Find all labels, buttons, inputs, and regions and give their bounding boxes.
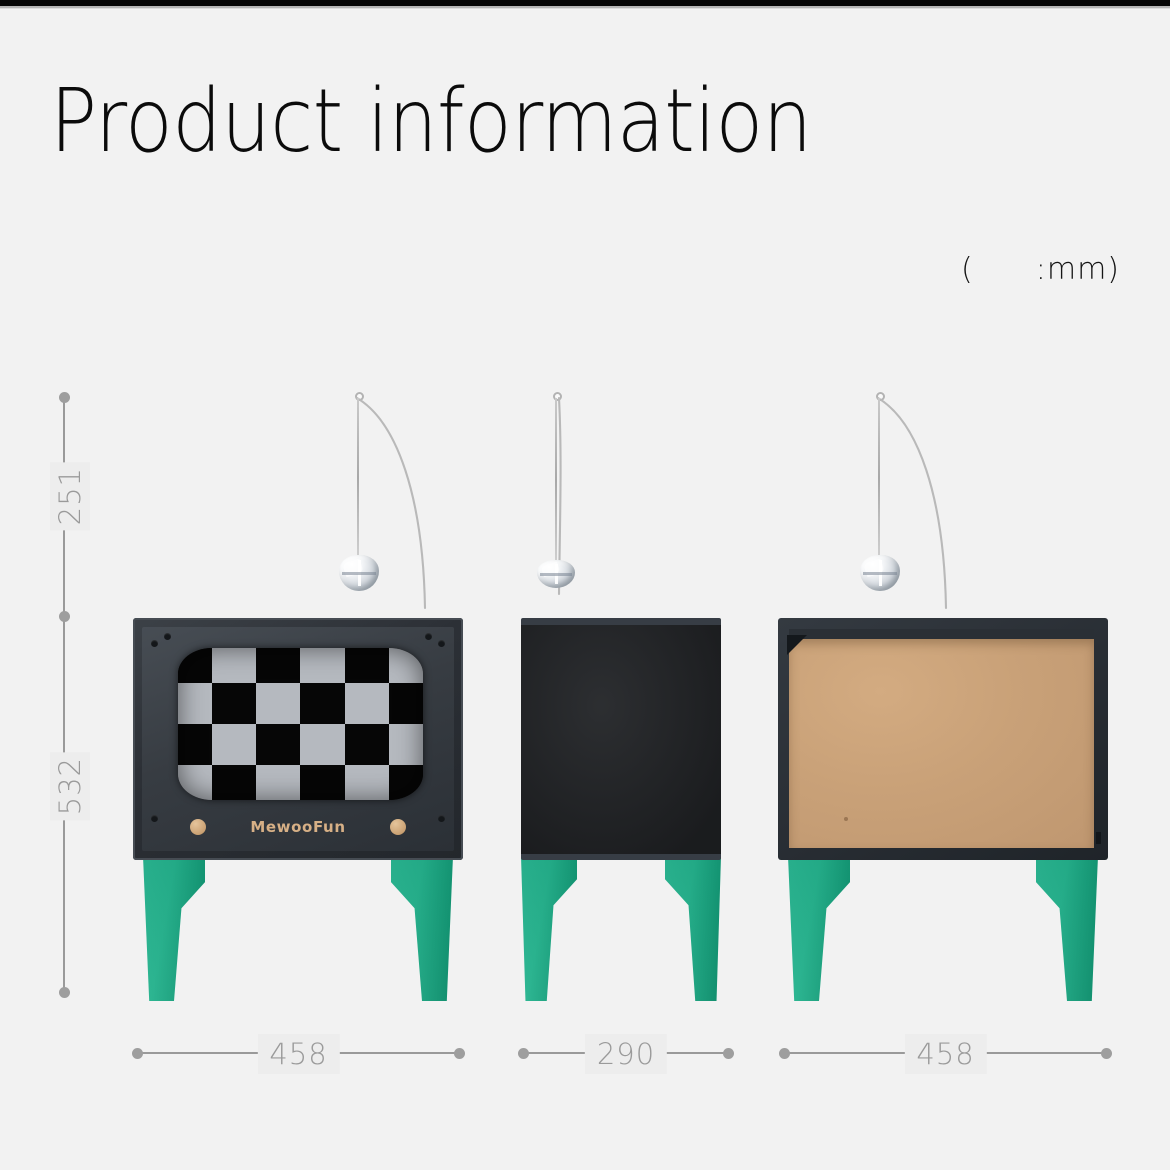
dimension-dot-right xyxy=(1101,1048,1112,1059)
bell-drop-wire xyxy=(555,398,557,563)
leg-right xyxy=(665,856,721,1001)
leg-left xyxy=(143,856,205,1001)
checker-cell xyxy=(212,648,256,683)
checker-cell xyxy=(256,724,300,765)
screw-top-right-2 xyxy=(425,633,432,640)
wire-toy-front xyxy=(355,392,445,577)
checker-cell xyxy=(256,648,300,683)
checker-cell xyxy=(300,765,344,800)
checker-cell xyxy=(256,683,300,724)
checker-cell xyxy=(389,683,423,724)
checker-cell xyxy=(389,765,423,800)
dimension-label-side-depth: 290 xyxy=(585,1034,667,1074)
checker-cell xyxy=(345,765,389,800)
product-side-view xyxy=(517,386,725,1001)
corner-notch xyxy=(787,635,807,655)
tv-cabinet-back xyxy=(778,618,1108,860)
bell-slit-horizontal xyxy=(342,572,376,575)
legs-front xyxy=(143,856,453,1001)
horizontal-dimension-rail-front: 458 xyxy=(132,1048,465,1059)
dimension-label-front-width: 458 xyxy=(257,1034,339,1074)
dimension-dot-left xyxy=(518,1048,529,1059)
product-stage: MewooFun xyxy=(0,0,1170,1170)
checker-cell xyxy=(389,648,423,683)
screw-top-right xyxy=(438,640,445,647)
side-panel-texture xyxy=(521,625,721,854)
checker-cell xyxy=(300,648,344,683)
horizontal-dimension-rail-side: 290 xyxy=(518,1048,734,1059)
knob-right-icon xyxy=(390,819,406,835)
checkerboard-pattern xyxy=(178,648,423,800)
wire-toy-back xyxy=(876,392,966,577)
checker-cell xyxy=(178,648,212,683)
knob-left-icon xyxy=(190,819,206,835)
checker-cell xyxy=(212,724,256,765)
legs-side xyxy=(521,856,721,1001)
checker-cell xyxy=(345,683,389,724)
checker-cell xyxy=(345,648,389,683)
dimension-label-back-width: 458 xyxy=(904,1034,986,1074)
leg-left xyxy=(521,856,577,1001)
leg-left xyxy=(788,856,850,1001)
tv-cabinet-front: MewooFun xyxy=(133,618,463,860)
tv-cabinet-side xyxy=(521,618,721,860)
horizontal-dimension-rail-back: 458 xyxy=(779,1048,1112,1059)
checker-cell xyxy=(345,724,389,765)
product-front-view: MewooFun xyxy=(133,386,463,1001)
leg-right xyxy=(391,856,453,1001)
checker-cell xyxy=(300,683,344,724)
leg-right xyxy=(1036,856,1098,1001)
cardboard-panel xyxy=(789,639,1094,848)
checker-cell xyxy=(256,765,300,800)
dimension-dot-left xyxy=(132,1048,143,1059)
bell-drop-wire xyxy=(357,398,359,558)
dimension-dot-right xyxy=(723,1048,734,1059)
checker-cell xyxy=(178,683,212,724)
dimension-dot-right xyxy=(454,1048,465,1059)
checker-cell xyxy=(212,683,256,724)
checker-cell xyxy=(212,765,256,800)
side-nick xyxy=(1096,832,1101,844)
tv-screen xyxy=(178,648,423,800)
legs-back xyxy=(788,856,1098,1001)
bell-slit-horizontal xyxy=(863,572,897,575)
dimension-dot-left xyxy=(779,1048,790,1059)
brand-bar: MewooFun xyxy=(133,804,463,850)
bell-slit-horizontal xyxy=(540,573,572,576)
checker-cell xyxy=(389,724,423,765)
checker-cell xyxy=(178,724,212,765)
checker-cell xyxy=(178,765,212,800)
bell-drop-wire xyxy=(878,398,880,558)
product-back-view xyxy=(778,386,1108,1001)
screw-top-left xyxy=(151,640,158,647)
screw-top-left-2 xyxy=(164,633,171,640)
brand-name: MewooFun xyxy=(250,818,345,836)
checker-cell xyxy=(300,724,344,765)
wire-toy-side xyxy=(553,392,583,577)
